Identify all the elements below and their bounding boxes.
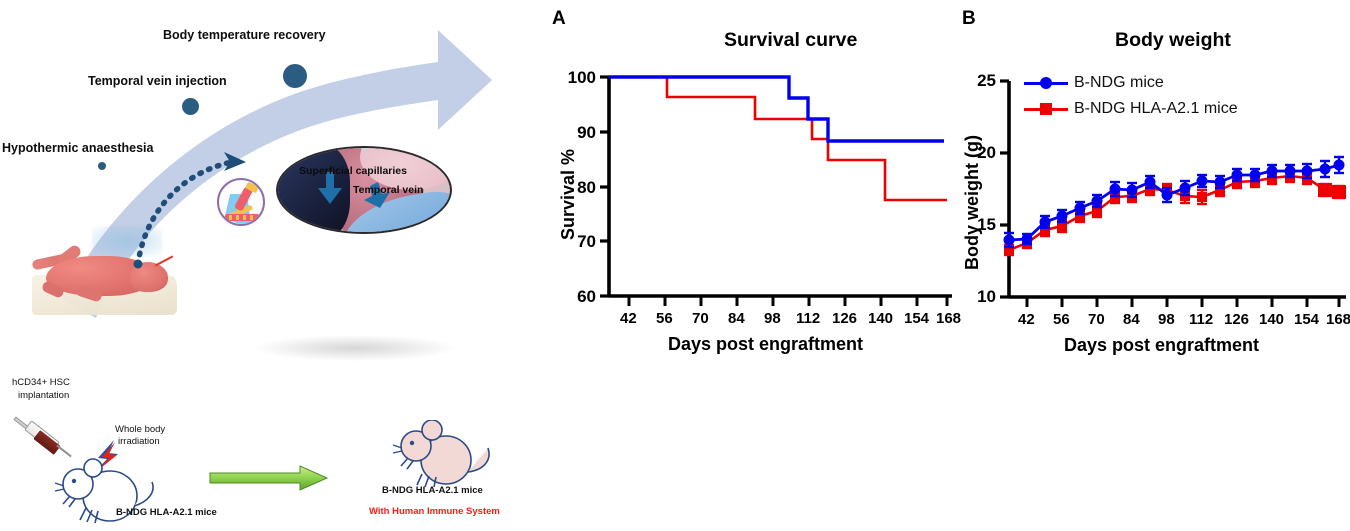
- x-tick-label-a-140: 140: [868, 310, 893, 327]
- workflow-mouse-right-label: B-NDG HLA-A2.1 mice: [382, 485, 483, 496]
- legend-key-square: [1024, 99, 1068, 119]
- x-tick-label-b-98: 98: [1158, 311, 1175, 328]
- legend-label-b-ndg: B-NDG mice: [1074, 74, 1164, 92]
- flow-label-body-temperature-recovery: Body temperature recovery: [163, 28, 326, 42]
- error-bars-red: [1004, 170, 1344, 255]
- drop-shadow: [255, 335, 455, 361]
- flow-label-temporal-vein-injection: Temporal vein injection: [88, 74, 227, 88]
- workflow-green-arrow: [208, 464, 330, 492]
- legend-label-b-ndg-hla: B-NDG HLA-A2.1 mice: [1074, 100, 1238, 118]
- mouse-illustration-right: [388, 420, 498, 488]
- body-weight-plot-canvas: [950, 0, 1350, 340]
- legend-item-b-ndg-hla[interactable]: B-NDG HLA-A2.1 mice: [1024, 96, 1238, 122]
- y-axis-title-b: Body weight (g): [962, 135, 983, 270]
- survival-step-red: [609, 77, 947, 200]
- stage-dot-small: [98, 162, 106, 170]
- y-tick-label-a-100: 100: [544, 68, 596, 88]
- x-tick-label-b-84: 84: [1123, 311, 1140, 328]
- panel-a-survival-curve: A Survival curve: [540, 0, 960, 531]
- hsc-implantation-label-line1: hCD34+ HSC: [12, 377, 70, 388]
- stage-dot-medium: [182, 98, 199, 115]
- x-tick-label-a-154: 154: [904, 310, 929, 327]
- x-axis-title-a: Days post engraftment: [668, 334, 863, 355]
- legend-item-b-ndg[interactable]: B-NDG mice: [1024, 70, 1238, 96]
- workflow-mouse-left-label: B-NDG HLA-A2.1 mice: [116, 507, 217, 518]
- stage-dot-large: [283, 64, 307, 88]
- x-tick-label-b-112: 112: [1189, 311, 1213, 328]
- hsc-implantation-label-line2: implantation: [18, 390, 69, 401]
- microscope-icon: [217, 178, 265, 226]
- x-tick-label-a-42: 42: [620, 310, 637, 327]
- x-tick-label-b-126: 126: [1224, 311, 1249, 328]
- x-tick-label-a-112: 112: [796, 310, 820, 327]
- irradiation-label-line1: Whole body: [115, 424, 165, 435]
- x-axis-title-b: Days post engraftment: [1064, 335, 1259, 356]
- survival-plot-canvas: [540, 0, 960, 340]
- x-tick-label-b-168: 168: [1326, 311, 1350, 328]
- x-tick-label-a-56: 56: [656, 310, 673, 327]
- y-tick-label-b-10: 10: [950, 287, 996, 307]
- y-tick-label-a-60: 60: [544, 287, 596, 307]
- x-tick-label-a-70: 70: [692, 310, 709, 327]
- x-tick-label-b-140: 140: [1259, 311, 1284, 328]
- x-tick-label-a-84: 84: [728, 310, 745, 327]
- x-tick-label-b-154: 154: [1294, 311, 1319, 328]
- legend-key-circle: [1024, 73, 1068, 93]
- figure-root: Body temperature recovery Temporal vein …: [0, 0, 1350, 531]
- y-tick-label-a-90: 90: [544, 123, 596, 143]
- x-tick-label-a-98: 98: [764, 310, 781, 327]
- inset-label-superficial-capillaries: Superficial capillaries: [299, 165, 407, 177]
- markers-blue: [1004, 160, 1345, 246]
- markers-red: [1004, 171, 1346, 255]
- inset-label-temporal-vein: Temporal vein: [353, 184, 423, 196]
- x-tick-label-b-56: 56: [1053, 311, 1070, 328]
- engraftment-workflow: hCD34+ HSC implantation Whole body irrad…: [0, 372, 540, 531]
- survival-step-blue: [609, 77, 944, 141]
- y-axis-title-a: Survival %: [558, 149, 579, 240]
- x-tick-label-b-70: 70: [1088, 311, 1105, 328]
- y-tick-label-b-25: 25: [950, 71, 996, 91]
- schematic-panel: Body temperature recovery Temporal vein …: [0, 0, 540, 531]
- workflow-human-immune-system-label: With Human Immune System: [369, 506, 500, 517]
- x-tick-label-a-126: 126: [832, 310, 857, 327]
- legend-panel-b: B-NDG mice B-NDG HLA-A2.1 mice: [1024, 70, 1238, 122]
- panel-b-body-weight: B Body weight: [950, 0, 1350, 531]
- x-tick-label-b-42: 42: [1018, 311, 1035, 328]
